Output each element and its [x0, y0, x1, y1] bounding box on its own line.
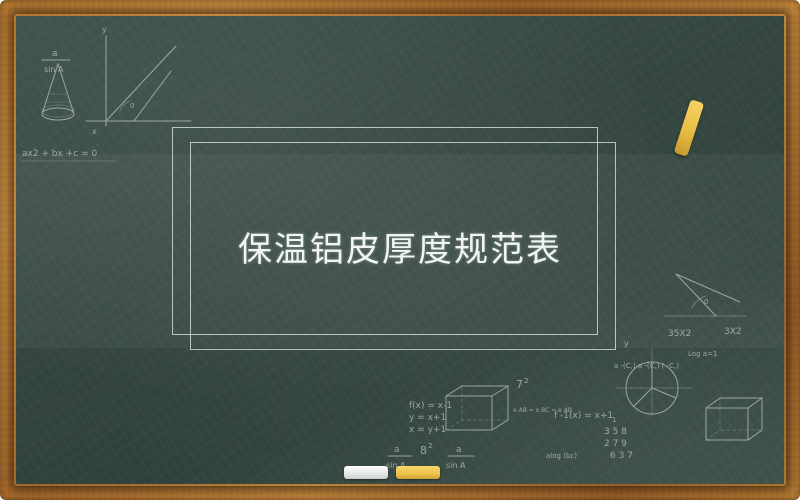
- white-chalk-piece: [344, 466, 388, 479]
- svg-text:35X2: 35X2: [668, 329, 691, 339]
- chalkboard-image: a sin A y x 0 ax2 + bx +c = 0: [0, 0, 800, 500]
- svg-text:8: 8: [420, 444, 427, 457]
- svg-text:7: 7: [516, 378, 523, 391]
- svg-text:6 3 7: 6 3 7: [610, 451, 633, 461]
- svg-text:0: 0: [130, 102, 134, 110]
- svg-text:y: y: [624, 339, 629, 348]
- svg-text:e AB = x BC = e AB: e AB = x BC = e AB: [513, 407, 572, 414]
- svg-text:y = x+1: y = x+1: [409, 413, 446, 423]
- svg-text:Log a=1: Log a=1: [688, 350, 717, 358]
- svg-text:3 5 8: 3 5 8: [604, 427, 627, 437]
- svg-text:0: 0: [704, 298, 708, 306]
- svg-text:a: a: [52, 49, 58, 59]
- svg-text:sin A: sin A: [446, 461, 466, 470]
- svg-text:sin A: sin A: [44, 65, 64, 74]
- svg-text:2 7 9: 2 7 9: [604, 439, 627, 449]
- svg-text:y: y: [102, 25, 107, 34]
- svg-text:a -(C,) a -(C,) ( -C,): a -(C,) a -(C,) ( -C,): [614, 362, 679, 370]
- svg-text:a: a: [394, 445, 400, 455]
- svg-text:f -1(x) = x+1: f -1(x) = x+1: [554, 411, 613, 421]
- svg-text:f(x) = x-1: f(x) = x-1: [409, 401, 452, 411]
- svg-text:alog (bc): alog (bc): [546, 452, 577, 460]
- page-title: 保温铝皮厚度规范表: [0, 222, 800, 271]
- svg-text:ax2 + bx +c = 0: ax2 + bx +c = 0: [22, 149, 97, 159]
- yellow-chalk-stick: [674, 99, 705, 157]
- svg-text:a: a: [456, 445, 462, 455]
- yellow-chalk-piece: [396, 466, 440, 479]
- svg-text:x: x: [92, 127, 97, 136]
- svg-text:2: 2: [428, 442, 432, 450]
- svg-text:x = y+1: x = y+1: [409, 425, 446, 435]
- svg-text:1: 1: [612, 416, 616, 424]
- svg-text:2: 2: [524, 377, 528, 385]
- svg-text:3X2: 3X2: [724, 327, 742, 337]
